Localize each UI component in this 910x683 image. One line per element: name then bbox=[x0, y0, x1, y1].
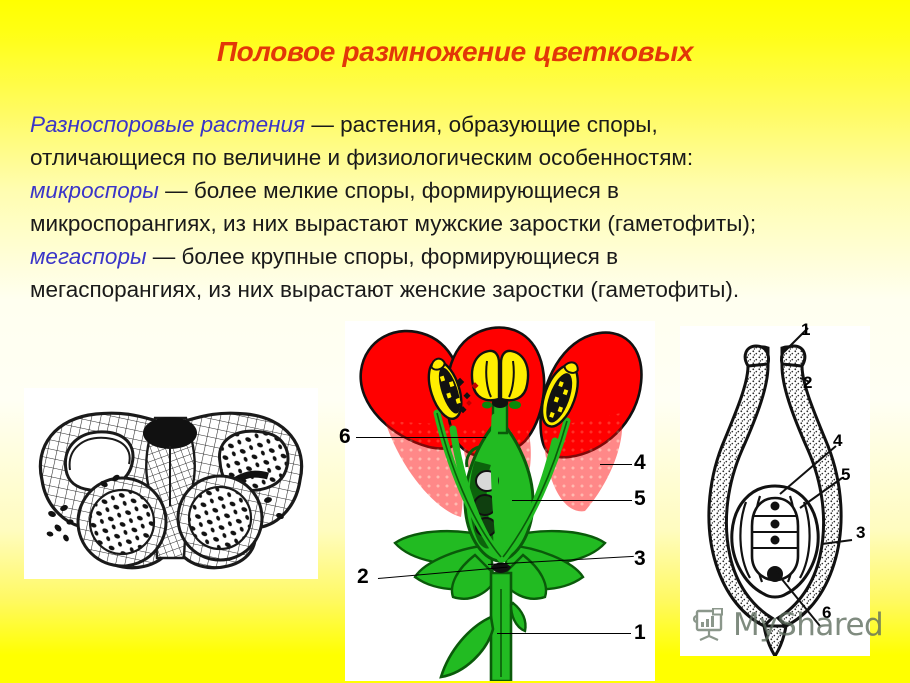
body-line-6: мегаспорангиях, из них вырастают женские… bbox=[30, 277, 739, 302]
flower-label-3: 3 bbox=[634, 548, 646, 569]
figure-anther-cross-section bbox=[24, 388, 318, 579]
ovule-label-5: 5 bbox=[841, 466, 850, 483]
term-heterosporous-plants: Разноспоровые растения bbox=[30, 112, 305, 137]
flower-leader-6 bbox=[356, 437, 486, 438]
slide-root: Половое размножение цветковых Разноспоро… bbox=[0, 0, 910, 683]
anther-cross-section-drawing bbox=[24, 388, 318, 579]
ovule-label-3: 3 bbox=[856, 524, 865, 541]
body-text: Разноспоровые растения — растения, образ… bbox=[30, 108, 890, 306]
flower-leader-5 bbox=[512, 500, 632, 501]
body-line-4: микроспорангиях, из них вырастают мужски… bbox=[30, 211, 756, 236]
flower-label-5: 5 bbox=[634, 488, 646, 509]
presentation-board-icon bbox=[692, 608, 728, 642]
flower-label-6: 6 bbox=[339, 426, 351, 447]
watermark-text: MyShared bbox=[733, 607, 883, 643]
flower-label-2: 2 bbox=[357, 566, 369, 587]
ovule-label-1: 1 bbox=[801, 321, 810, 338]
body-line-3-rest: — более мелкие споры, формирующиеся в bbox=[159, 178, 619, 203]
page-title: Половое размножение цветковых bbox=[0, 36, 910, 68]
term-megaspores: мегаспоры bbox=[30, 244, 147, 269]
flower-label-4: 4 bbox=[634, 452, 646, 473]
ovule-label-4: 4 bbox=[833, 432, 842, 449]
flower-leader-4 bbox=[600, 464, 632, 465]
flower-label-1: 1 bbox=[634, 622, 646, 643]
term-microspores: микроспоры bbox=[30, 178, 159, 203]
flower-leader-1 bbox=[497, 633, 631, 634]
ovule-label-2: 2 bbox=[803, 374, 812, 391]
body-line-2: отличающиеся по величине и физиологическ… bbox=[30, 145, 693, 170]
body-line-1-rest: — растения, образующие споры, bbox=[305, 112, 658, 137]
body-line-5-rest: — более крупные споры, формирующиеся в bbox=[147, 244, 619, 269]
watermark: MyShared bbox=[692, 607, 883, 643]
